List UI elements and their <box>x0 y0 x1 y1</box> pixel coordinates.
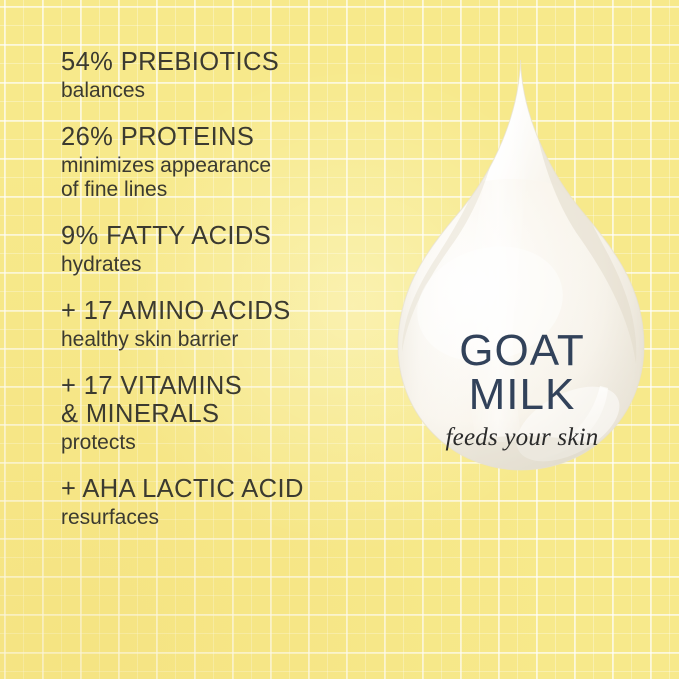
benefit-description: healthy skin barrier <box>61 328 381 352</box>
benefit-title: 54% PREBIOTICS <box>61 48 381 76</box>
milk-droplet-icon <box>372 52 672 562</box>
benefit-description: balances <box>61 79 381 103</box>
benefit-title: + 17 VITAMINS & MINERALS <box>61 372 381 428</box>
benefit-item-fatty-acids: 9% FATTY ACIDS hydrates <box>61 222 381 277</box>
benefit-description: resurfaces <box>61 506 381 530</box>
benefits-list: 54% PREBIOTICS balances 26% PROTEINS min… <box>61 48 381 550</box>
goat-milk-benefits-infographic: 54% PREBIOTICS balances 26% PROTEINS min… <box>0 0 679 679</box>
benefit-title: + 17 AMINO ACIDS <box>61 297 381 325</box>
benefit-description: minimizes appearance of fine lines <box>61 154 381 202</box>
benefit-item-aha-lactic-acid: + AHA LACTIC ACID resurfaces <box>61 475 381 530</box>
benefit-item-vitamins-minerals: + 17 VITAMINS & MINERALS protects <box>61 372 381 455</box>
benefit-title: 9% FATTY ACIDS <box>61 222 381 250</box>
benefit-description: hydrates <box>61 253 381 277</box>
benefit-title: + AHA LACTIC ACID <box>61 475 381 503</box>
benefit-item-amino-acids: + 17 AMINO ACIDS healthy skin barrier <box>61 297 381 352</box>
benefit-title: 26% PROTEINS <box>61 123 381 151</box>
benefit-item-proteins: 26% PROTEINS minimizes appearance of fin… <box>61 123 381 202</box>
benefit-item-prebiotics: 54% PREBIOTICS balances <box>61 48 381 103</box>
benefit-description: protects <box>61 431 381 455</box>
